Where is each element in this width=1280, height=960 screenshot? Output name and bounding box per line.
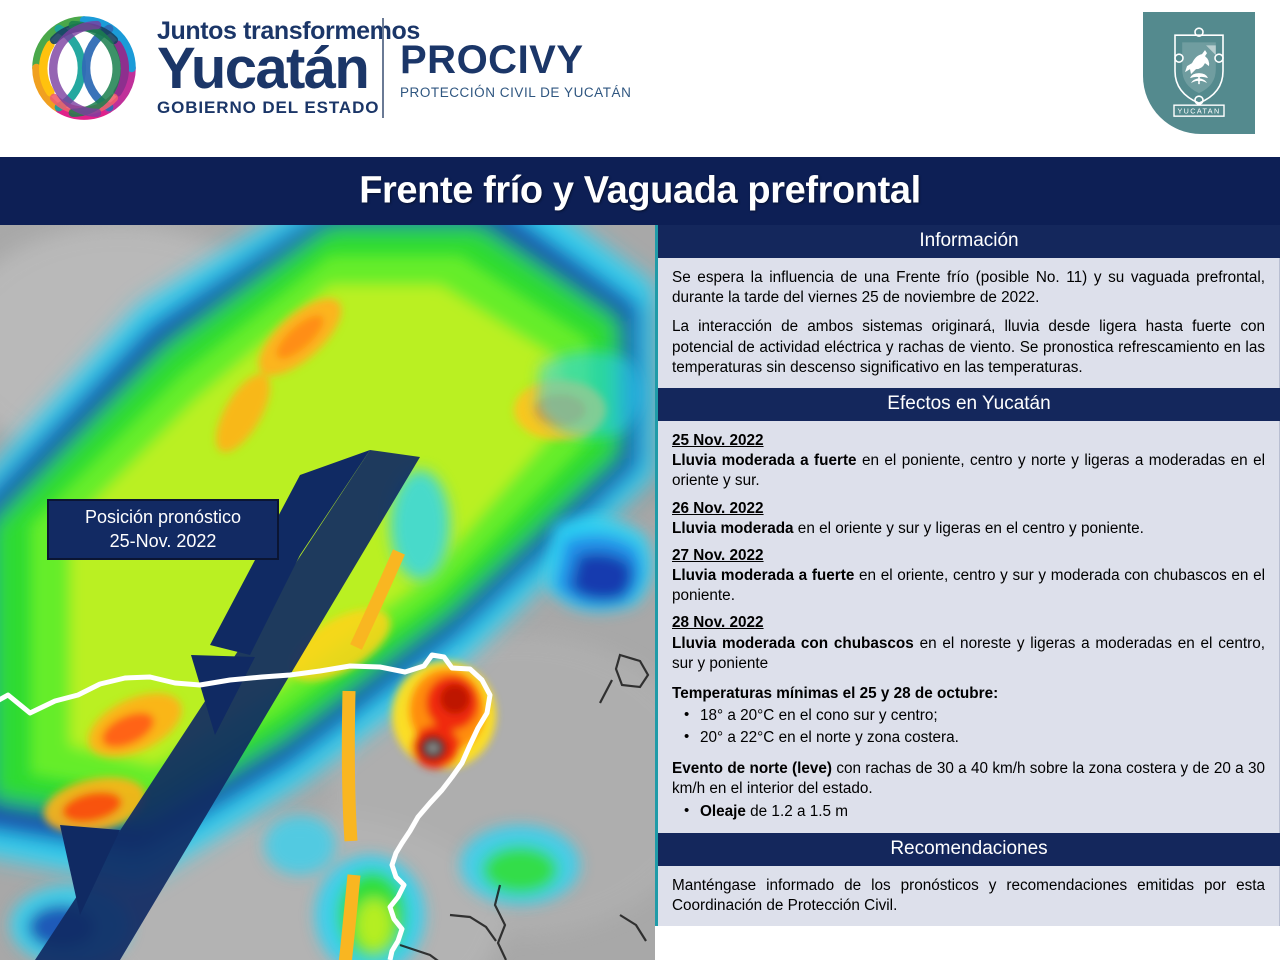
temperatures-list: 18° a 20°C en el cono sur y centro; 20° … xyxy=(680,705,1265,749)
effect-text-27: Lluvia moderada a fuerte en el oriente, … xyxy=(672,566,1265,606)
effect-date-27: 27 Nov. 2022 xyxy=(672,546,1265,566)
spacer xyxy=(672,750,1265,759)
informacion-paragraph-1: Se espera la influencia de una Frente fr… xyxy=(672,268,1265,308)
forecast-map: Posición pronóstico 25-Nov. 2022 Yucatán… xyxy=(0,225,655,960)
agency-subtitle: PROTECCIÓN CIVIL DE YUCATÁN xyxy=(400,85,631,100)
procivy-logo: PROCIVY PROTECCIÓN CIVIL DE YUCATÁN xyxy=(400,40,631,100)
header-divider xyxy=(382,18,384,118)
yucatan-crest-panel: YUCATAN xyxy=(1143,12,1255,134)
gov-state-name: Yucatán xyxy=(157,42,420,95)
yucatan-government-mark-icon xyxy=(25,12,143,124)
oleaje-list: Oleaje de 1.2 a 1.5 m xyxy=(680,801,1265,823)
informacion-heading: Información xyxy=(655,225,1280,258)
satellite-radar-map-image xyxy=(0,225,655,960)
efectos-heading: Efectos en Yucatán xyxy=(655,388,1280,421)
norte-event-bold: Evento de norte (leve) xyxy=(672,760,832,777)
effect-date-25: 25 Nov. 2022 xyxy=(672,431,1265,451)
effect-bold-25: Lluvia moderada a fuerte xyxy=(672,452,857,469)
recomendaciones-body: Manténgase informado de los pronósticos … xyxy=(655,866,1280,926)
efectos-body: 25 Nov. 2022 Lluvia moderada a fuerte en… xyxy=(655,421,1280,833)
government-logo: Juntos transformemos Yucatán GOBIERNO DE… xyxy=(25,12,420,124)
effect-text-28: Lluvia moderada con chubascos en el nore… xyxy=(672,634,1265,674)
norte-event-text: Evento de norte (leve) con rachas de 30 … xyxy=(672,759,1265,799)
effect-rest-26: en el oriente y sur y ligeras en el cent… xyxy=(794,520,1144,537)
effect-bold-27: Lluvia moderada a fuerte xyxy=(672,567,854,584)
oleaje-bold: Oleaje xyxy=(700,803,746,820)
gov-subtitle: GOBIERNO DEL ESTADO xyxy=(157,98,420,118)
yucatan-coat-of-arms-icon: YUCATAN xyxy=(1162,21,1236,117)
crest-label: YUCATAN xyxy=(1177,107,1220,116)
effect-date-26: 26 Nov. 2022 xyxy=(672,499,1265,519)
forecast-position-box: Posición pronóstico 25-Nov. 2022 xyxy=(47,499,279,560)
effect-date-28: 28 Nov. 2022 xyxy=(672,613,1265,633)
temperature-item: 20° a 22°C en el norte y zona costera. xyxy=(680,727,1265,749)
recomendaciones-text: Manténgase informado de los pronósticos … xyxy=(672,876,1265,916)
effect-bold-28: Lluvia moderada con chubascos xyxy=(672,635,914,652)
oleaje-rest: de 1.2 a 1.5 m xyxy=(746,803,848,820)
informacion-paragraph-2: La interacción de ambos sistemas origina… xyxy=(672,317,1265,378)
informacion-body: Se espera la influencia de una Frente fr… xyxy=(655,258,1280,388)
agency-name: PROCIVY xyxy=(400,40,631,80)
temperatures-heading: Temperaturas mínimas el 25 y 28 de octub… xyxy=(672,684,1265,704)
effect-text-25: Lluvia moderada a fuerte en el poniente,… xyxy=(672,451,1265,491)
effect-text-26: Lluvia moderada en el oriente y sur y li… xyxy=(672,519,1265,539)
page-header: Juntos transformemos Yucatán GOBIERNO DE… xyxy=(0,0,1280,155)
page-title: Frente frío y Vaguada prefrontal xyxy=(0,170,1280,213)
recomendaciones-heading: Recomendaciones xyxy=(655,833,1280,866)
weather-advisory-infographic: Juntos transformemos Yucatán GOBIERNO DE… xyxy=(0,0,1280,960)
advisory-panels: Información Se espera la influencia de u… xyxy=(655,225,1280,960)
main-title-bar: Frente frío y Vaguada prefrontal xyxy=(0,157,1280,225)
position-line-2: 25-Nov. 2022 xyxy=(110,530,217,553)
temperature-item: 18° a 20°C en el cono sur y centro; xyxy=(680,705,1265,727)
position-line-1: Posición pronóstico xyxy=(85,506,241,529)
effect-bold-26: Lluvia moderada xyxy=(672,520,794,537)
oleaje-item: Oleaje de 1.2 a 1.5 m xyxy=(680,801,1265,823)
